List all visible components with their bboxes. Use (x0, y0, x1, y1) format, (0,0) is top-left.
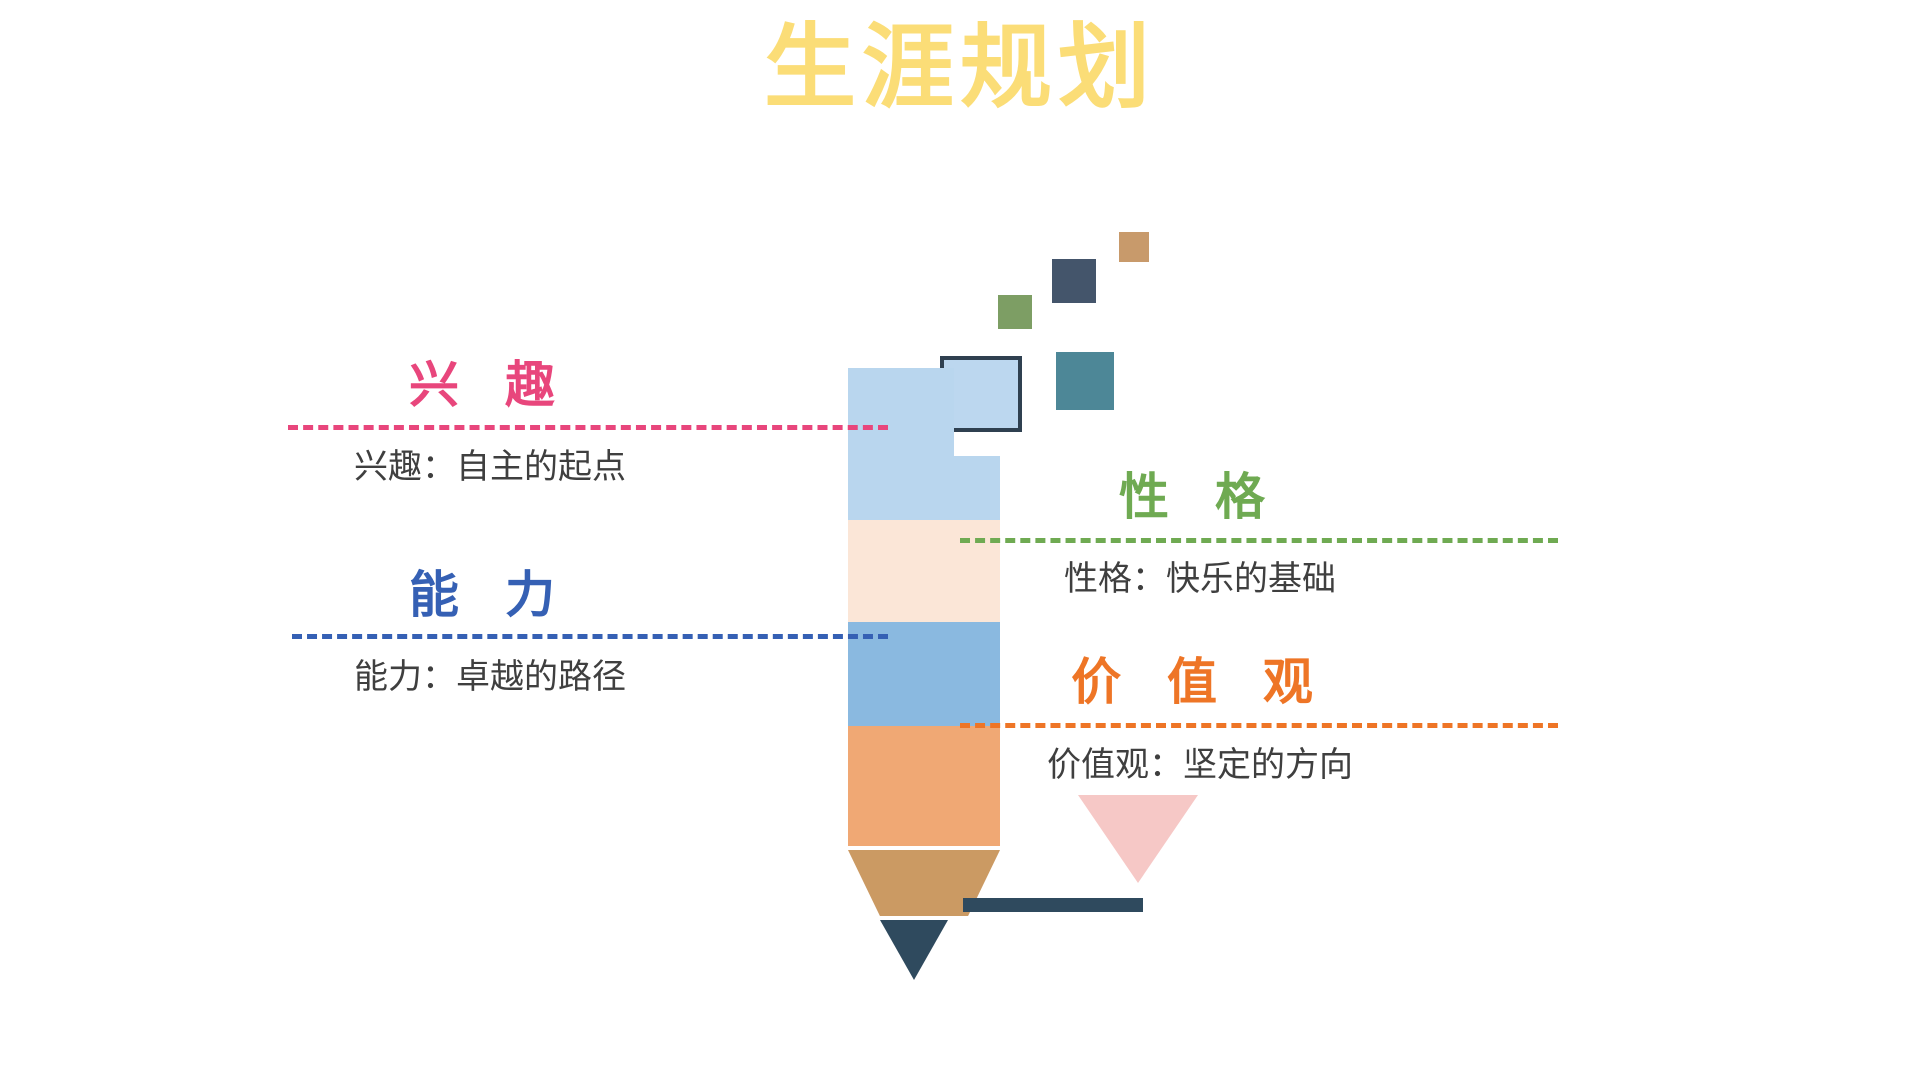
decorative-navy-square (1052, 259, 1096, 303)
pencil-band-interest-lower (848, 456, 1000, 520)
section-heading-ability: 能 力 (290, 570, 690, 620)
pencil-band-character (848, 520, 1000, 622)
section-heading-interest: 兴 趣 (290, 360, 690, 410)
slide-canvas: 生涯规划 兴 趣 兴趣：自主的起点 能 力 能力：卓越的路径 性 格 性格：快乐… (0, 0, 1920, 1080)
page-title: 生涯规划 (0, 18, 1920, 119)
section-caption-values: 价值观：坚定的方向 (1000, 748, 1400, 782)
pencil-graphic (848, 368, 1000, 920)
dashed-line-ability (292, 634, 888, 639)
dashed-line-character (960, 538, 1558, 543)
dashed-line-values (960, 723, 1558, 728)
decorative-base-bar (963, 898, 1143, 912)
pencil-band-interest-upper (848, 368, 954, 456)
pencil-lead-tip (880, 920, 948, 980)
decorative-pink-triangle (1078, 795, 1198, 883)
decorative-green-square (998, 295, 1032, 329)
section-heading-character: 性 格 (1000, 472, 1400, 522)
decorative-tan-square (1119, 232, 1149, 262)
section-caption-character: 性格：快乐的基础 (1000, 562, 1400, 596)
decorative-teal-square (1056, 352, 1114, 410)
pencil-band-values (848, 726, 1000, 846)
section-caption-ability: 能力：卓越的路径 (290, 660, 690, 694)
section-caption-interest: 兴趣：自主的起点 (290, 450, 690, 484)
section-heading-values: 价 值 观 (1000, 657, 1400, 707)
dashed-line-interest (288, 425, 888, 430)
